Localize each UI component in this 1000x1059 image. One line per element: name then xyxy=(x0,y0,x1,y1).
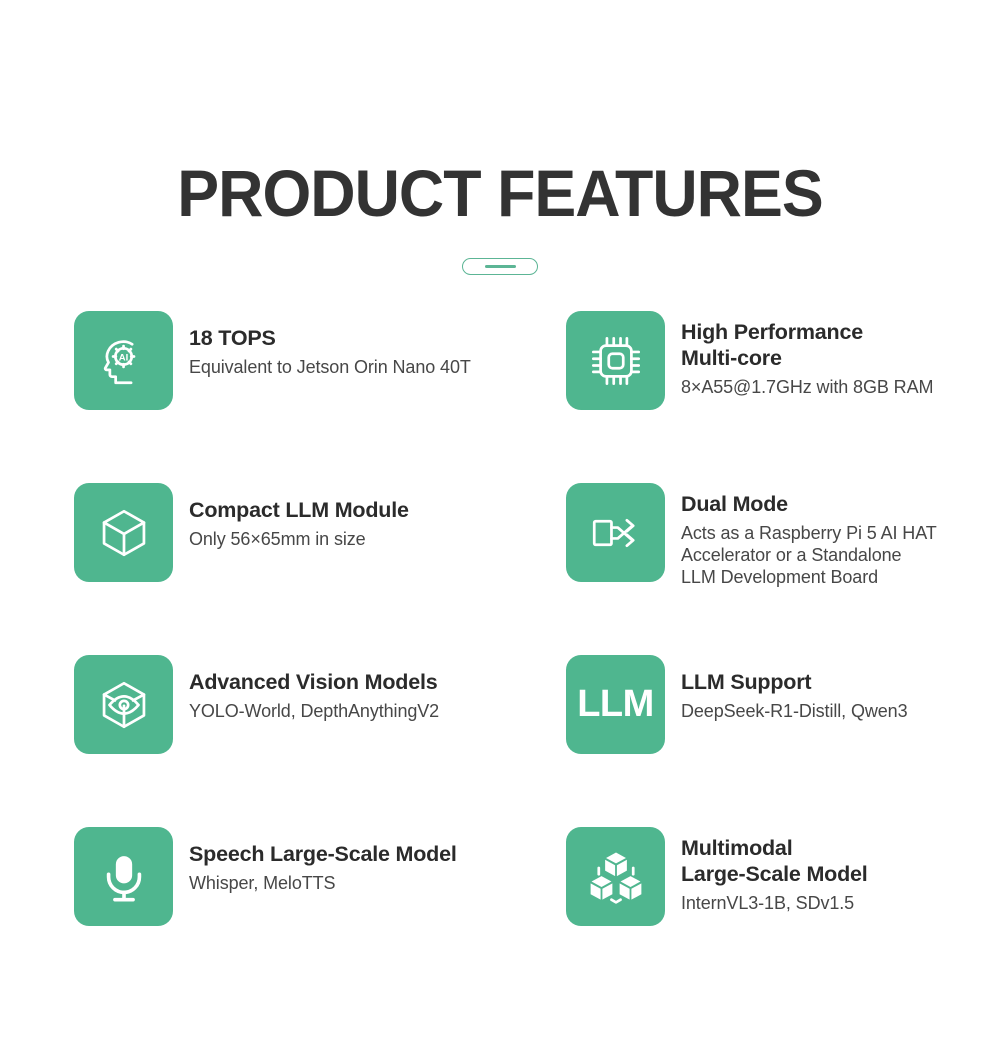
feature-text: 18 TOPS Equivalent to Jetson Orin Nano 4… xyxy=(189,323,471,379)
three-cubes-icon xyxy=(566,827,665,926)
feature-text: Multimodal Large-Scale Model InternVL3-1… xyxy=(681,833,868,915)
cube-eye-icon xyxy=(74,655,173,754)
page-header: PRODUCT FEATURES xyxy=(0,0,1000,275)
feature-text: Dual Mode Acts as a Raspberry Pi 5 AI HA… xyxy=(681,489,937,589)
feature-title: Compact LLM Module xyxy=(189,497,409,523)
feature-title: Speech Large-Scale Model xyxy=(189,841,457,867)
feature-title: LLM Support xyxy=(681,669,908,695)
feature-title: High Performance Multi-core xyxy=(681,319,933,371)
feature-desc: DeepSeek-R1-Distill, Qwen3 xyxy=(681,701,908,723)
feature-item-compact-module: Compact LLM Module Only 56×65mm in size xyxy=(74,483,566,655)
feature-grid: AI 18 TOPS Equivalent to Jetson Orin Nan… xyxy=(74,311,1000,999)
cube-outline-icon xyxy=(74,483,173,582)
feature-desc: YOLO-World, DepthAnythingV2 xyxy=(189,701,439,723)
ai-head-icon: AI xyxy=(74,311,173,410)
page-title: PRODUCT FEATURES xyxy=(25,160,975,226)
feature-text: Speech Large-Scale Model Whisper, MeloTT… xyxy=(189,839,457,895)
feature-desc: Only 56×65mm in size xyxy=(189,529,409,551)
divider-dash xyxy=(485,265,516,268)
feature-item-llm-support: LLM LLM Support DeepSeek-R1-Distill, Qwe… xyxy=(566,655,1000,827)
feature-text: LLM Support DeepSeek-R1-Distill, Qwen3 xyxy=(681,667,908,723)
feature-item-high-performance: High Performance Multi-core 8×A55@1.7GHz… xyxy=(566,311,1000,483)
feature-text: Advanced Vision Models YOLO-World, Depth… xyxy=(189,667,439,723)
feature-desc: Whisper, MeloTTS xyxy=(189,873,457,895)
shuffle-arrows-icon xyxy=(566,483,665,582)
llm-icon-label: LLM xyxy=(577,683,654,726)
divider-pill xyxy=(462,258,538,275)
cpu-chip-icon xyxy=(566,311,665,410)
feature-desc: Equivalent to Jetson Orin Nano 40T xyxy=(189,357,471,379)
title-divider xyxy=(0,258,1000,275)
microphone-icon xyxy=(74,827,173,926)
feature-item-speech-model: Speech Large-Scale Model Whisper, MeloTT… xyxy=(74,827,566,999)
feature-item-multimodal-model: Multimodal Large-Scale Model InternVL3-1… xyxy=(566,827,1000,999)
feature-title: Multimodal Large-Scale Model xyxy=(681,835,868,887)
feature-title: Advanced Vision Models xyxy=(189,669,439,695)
svg-text:AI: AI xyxy=(118,352,128,363)
llm-text-icon: LLM xyxy=(566,655,665,754)
feature-title: 18 TOPS xyxy=(189,325,471,351)
feature-item-vision-models: Advanced Vision Models YOLO-World, Depth… xyxy=(74,655,566,827)
feature-title: Dual Mode xyxy=(681,491,937,517)
feature-item-18-tops: AI 18 TOPS Equivalent to Jetson Orin Nan… xyxy=(74,311,566,483)
feature-desc: InternVL3-1B, SDv1.5 xyxy=(681,893,868,915)
feature-desc: 8×A55@1.7GHz with 8GB RAM xyxy=(681,377,933,399)
feature-text: High Performance Multi-core 8×A55@1.7GHz… xyxy=(681,317,933,399)
feature-item-dual-mode: Dual Mode Acts as a Raspberry Pi 5 AI HA… xyxy=(566,483,1000,655)
feature-desc: Acts as a Raspberry Pi 5 AI HAT Accelera… xyxy=(681,523,937,589)
feature-text: Compact LLM Module Only 56×65mm in size xyxy=(189,495,409,551)
